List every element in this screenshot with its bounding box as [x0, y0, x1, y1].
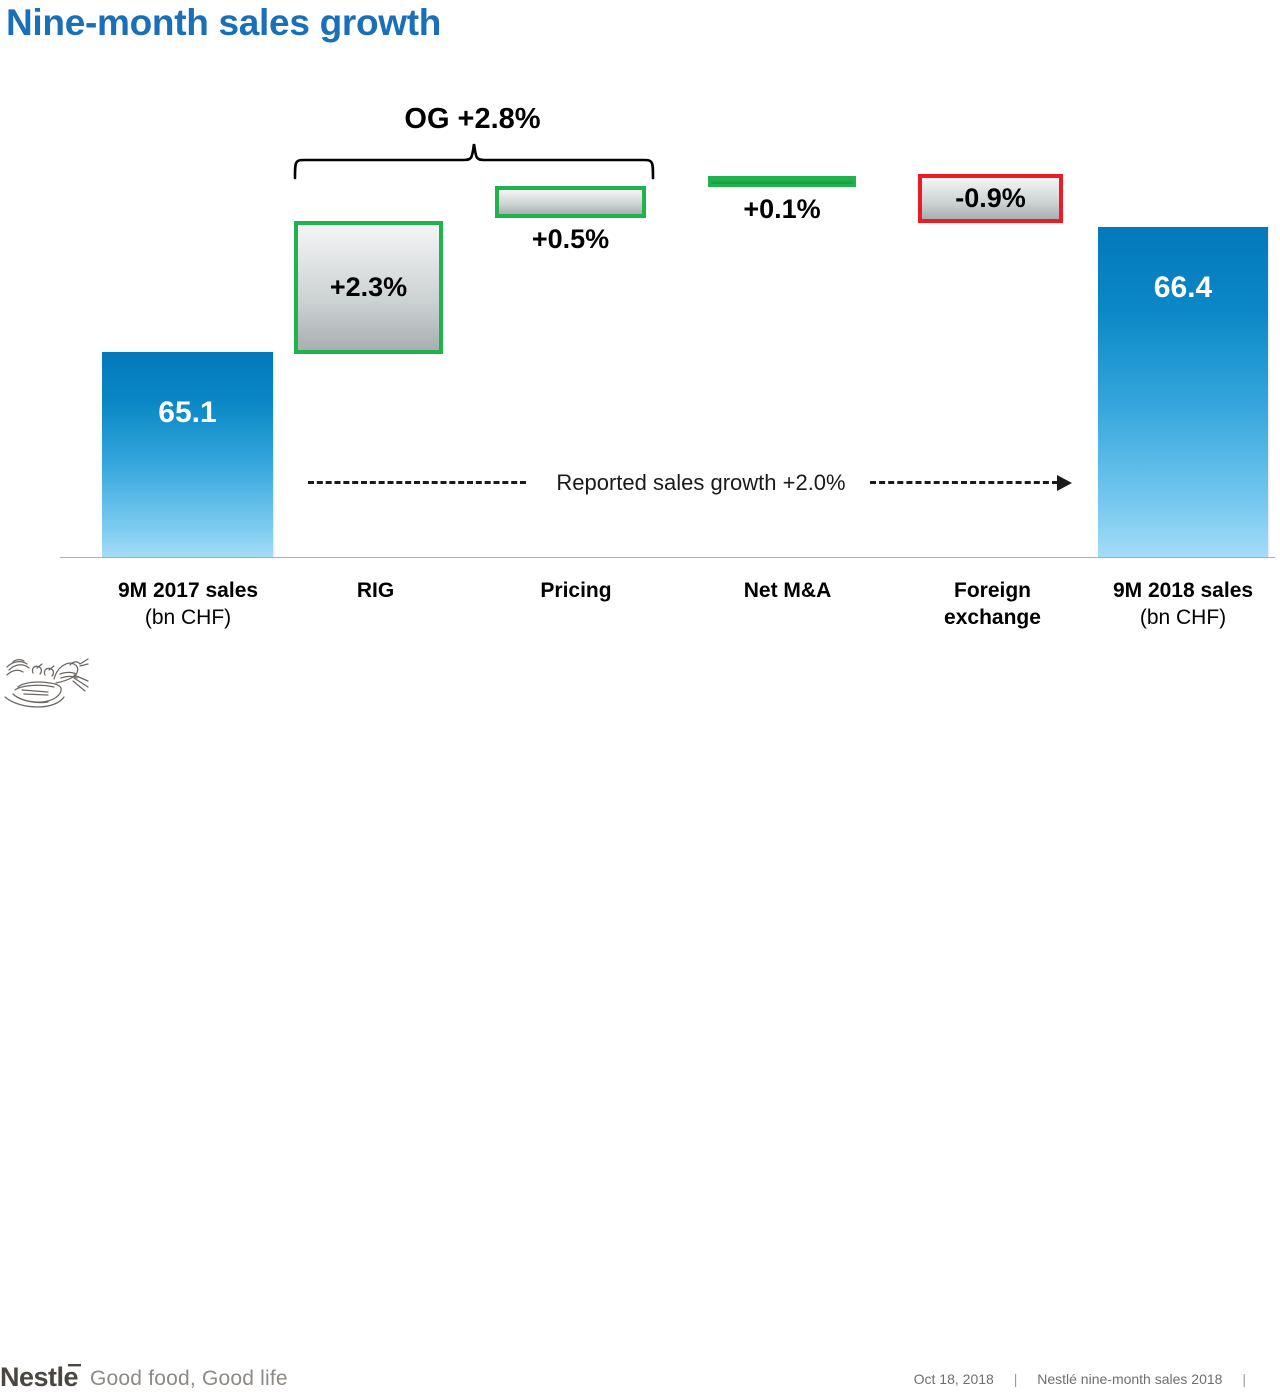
dashed-line-left — [308, 481, 526, 484]
waterfall-chart: OG +2.8% 65.1 +2.3% +0.5% +0.1% -0.9% 66… — [0, 0, 1280, 660]
footer-document-title: Nestlé nine-month sales 2018 — [1037, 1371, 1222, 1387]
reported-growth-annotation: Reported sales growth +2.0% — [300, 470, 1080, 496]
footer-meta: Oct 18, 2018 | Nestlé nine-month sales 2… — [914, 1371, 1262, 1387]
category-label-main-line2: exchange — [905, 605, 1080, 632]
footer: Nestle Good food, Good life Oct 18, 2018… — [0, 655, 1280, 753]
bar-foreign-exchange[interactable]: -0.9% — [918, 174, 1063, 223]
og-bracket-icon — [288, 140, 660, 185]
category-label-net-m-and-a: Net M&A — [700, 578, 875, 605]
category-label-main: Pricing — [540, 579, 611, 602]
svg-text:Nestle: Nestle — [0, 1362, 79, 1392]
reported-growth-label: Reported sales growth +2.0% — [536, 470, 866, 496]
category-label-pricing: Pricing — [490, 578, 662, 605]
bar-value-9m-2017-sales: 65.1 — [102, 396, 273, 430]
axis-baseline — [60, 557, 1275, 558]
category-label-main: RIG — [357, 579, 394, 602]
category-label-foreign-exchange: Foreign exchange — [905, 578, 1080, 632]
footer-separator-2: | — [1226, 1371, 1262, 1387]
nestle-nest-logo-icon — [4, 657, 90, 714]
arrow-right-icon — [1057, 475, 1072, 491]
bar-value-9m-2018-sales: 66.4 — [1098, 271, 1268, 305]
nestle-tagline: Good food, Good life — [90, 1367, 288, 1391]
bar-value-net-m-and-a: +0.1% — [708, 194, 856, 225]
category-label-9m-2018-sales: 9M 2018 sales (bn CHF) — [1092, 578, 1274, 632]
bar-net-m-and-a[interactable] — [708, 176, 856, 187]
category-label-sub: (bn CHF) — [97, 605, 279, 632]
category-label-main-line1: Foreign — [954, 579, 1031, 602]
bar-value-rig: +2.3% — [330, 274, 407, 301]
bar-rig[interactable]: +2.3% — [294, 221, 443, 354]
bar-value-pricing: +0.5% — [495, 224, 646, 255]
nestle-wordmark: Nestle — [0, 1361, 86, 1400]
bar-9m-2018-sales[interactable]: 66.4 — [1098, 227, 1268, 557]
category-label-main: 9M 2017 sales — [118, 579, 258, 602]
category-label-main: 9M 2018 sales — [1113, 579, 1253, 602]
og-bracket-label: OG +2.8% — [295, 103, 650, 136]
category-label-sub: (bn CHF) — [1092, 605, 1274, 632]
category-label-9m-2017-sales: 9M 2017 sales (bn CHF) — [97, 578, 279, 632]
footer-date: Oct 18, 2018 — [914, 1371, 994, 1387]
bar-value-foreign-exchange: -0.9% — [955, 185, 1026, 212]
bar-pricing[interactable] — [495, 186, 646, 218]
footer-separator-1: | — [998, 1371, 1034, 1387]
bar-9m-2017-sales[interactable]: 65.1 — [102, 352, 273, 557]
dashed-line-right — [870, 481, 1058, 484]
category-label-main: Net M&A — [744, 579, 832, 602]
category-label-rig: RIG — [288, 578, 463, 605]
